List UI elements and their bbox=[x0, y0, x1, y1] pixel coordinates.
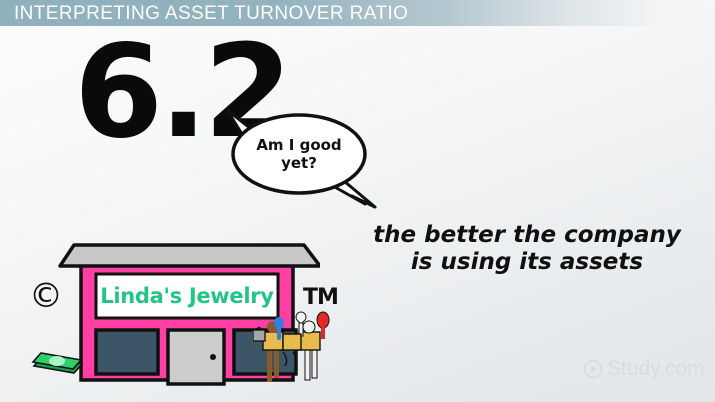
play-circle-icon bbox=[583, 359, 603, 379]
tagline-line-2: is using its assets bbox=[341, 249, 713, 276]
worker-left bbox=[253, 317, 284, 382]
storefront-sign-text: Linda's Jewelry bbox=[96, 276, 278, 316]
worker-figures-shape bbox=[253, 308, 335, 390]
worker-figures-illustration bbox=[253, 308, 335, 390]
watermark: Study.com bbox=[583, 358, 705, 380]
speech-bubble: Am I good yet? bbox=[231, 114, 367, 194]
speech-bubble-shape bbox=[225, 108, 375, 208]
tagline: the better the company is using its asse… bbox=[341, 222, 713, 276]
tagline-line-1: the better the company bbox=[341, 222, 713, 249]
money-bill-shape bbox=[28, 344, 86, 378]
watermark-label: Study.com bbox=[607, 358, 705, 380]
slide-canvas: INTERPRETING ASSET TURNOVER RATIO 6.2 Am… bbox=[0, 0, 715, 402]
money-icon bbox=[28, 344, 86, 378]
